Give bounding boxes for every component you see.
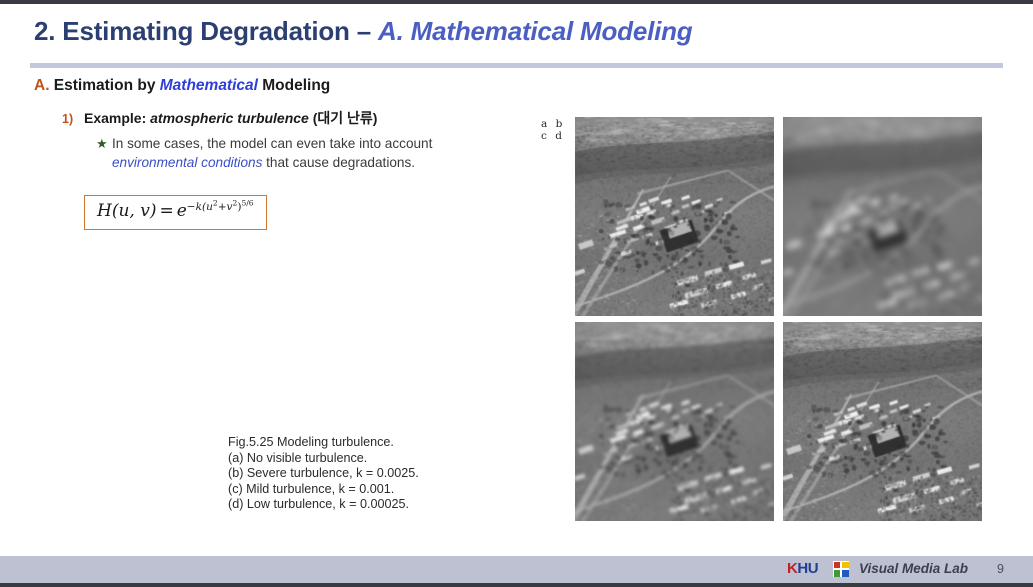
figure-panel-key: a bc d	[541, 118, 565, 142]
page-title-main: 2. Estimating Degradation –	[34, 16, 378, 46]
level1-text-before: Estimation by	[50, 77, 160, 94]
equation-exponent-body: (u	[202, 201, 213, 213]
level3-line2-after: that cause degradations.	[262, 155, 415, 170]
page-title: 2. Estimating Degradation – A. Mathemati…	[34, 16, 693, 47]
equation-exponent: −k(u2+v2)5/6	[187, 201, 254, 213]
level1-emphasis: Mathematical	[160, 77, 258, 94]
turbulence-image-grid	[575, 117, 982, 521]
khu-logo: KHU	[787, 560, 818, 577]
square-top-left	[834, 562, 841, 569]
page-title-accent: A. Mathematical Modeling	[378, 16, 692, 46]
equation-base: e	[177, 201, 187, 221]
page-number: 9	[997, 562, 1004, 576]
level3-line1: In some cases, the model can even take i…	[112, 136, 432, 151]
level2-emphasis: atmospheric turbulence	[150, 110, 309, 126]
equation-formula: H(u, v)=e−k(u2+v2)5/6	[97, 203, 254, 220]
level3-emphasis: environmental conditions	[112, 155, 262, 170]
photo-panel-a	[575, 117, 774, 316]
equation-exponent-outer: 5/6	[241, 198, 253, 207]
photo-panel-b	[783, 117, 982, 316]
square-top-right	[842, 562, 849, 569]
photo-panel-c	[575, 322, 774, 521]
lab-name: Visual Media Lab	[859, 561, 968, 576]
equation-exponent-plus: +	[218, 201, 227, 213]
square-bottom-left	[834, 570, 841, 577]
outline-level1: A. Estimation by Mathematical Modeling	[34, 77, 330, 95]
figure-key-row1: a b	[541, 118, 565, 130]
equation-box: H(u, v)=e−k(u2+v2)5/6	[84, 195, 267, 230]
equation-equals: =	[159, 201, 173, 221]
four-squares-icon	[833, 561, 849, 577]
figure-key-row2: c d	[541, 130, 564, 142]
star-bullet-icon: ★	[96, 134, 112, 153]
equation-lhs: H(u, v)	[97, 201, 156, 221]
khu-logo-h: H	[797, 560, 807, 577]
level2-text-before: Example:	[84, 110, 150, 126]
top-rule	[0, 0, 1033, 4]
equation-exponent-sign: −	[187, 201, 196, 213]
figure-caption: Fig.5.25 Modeling turbulence. (a) No vis…	[228, 435, 419, 513]
outline-level3: ★In some cases, the model can even take …	[96, 134, 432, 172]
level1-text-after: Modeling	[258, 77, 330, 94]
square-bottom-right	[842, 570, 849, 577]
level2-number: 1)	[62, 112, 84, 126]
bottom-rule	[0, 583, 1033, 587]
photo-panel-d	[783, 322, 982, 521]
level2-text-after: (대기 난류)	[309, 110, 378, 126]
khu-logo-k: K	[787, 560, 797, 577]
outline-level2: 1)Example: atmospheric turbulence (대기 난류…	[62, 108, 377, 128]
slide-canvas: 2. Estimating Degradation – A. Mathemati…	[0, 0, 1033, 587]
khu-logo-u: U	[808, 560, 818, 577]
title-underline	[30, 63, 1003, 68]
level1-label: A.	[34, 77, 50, 94]
